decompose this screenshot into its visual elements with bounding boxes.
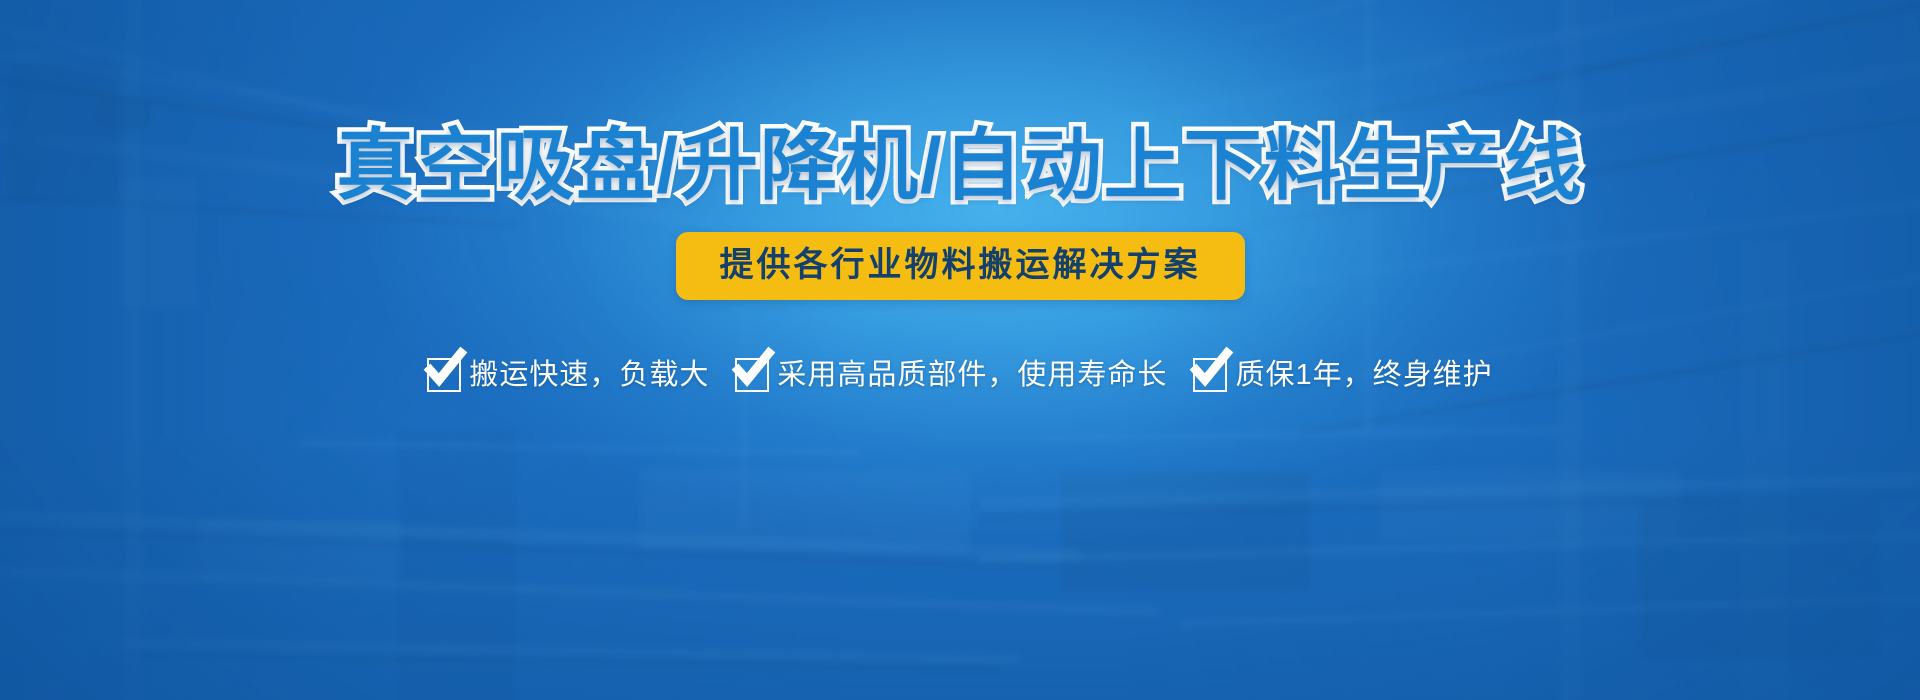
feature-item-2: 采用高品质部件，使用寿命长 (735, 358, 1167, 392)
feature-label-3: 质保1年，终身维护 (1235, 361, 1492, 390)
feature-label-1: 搬运快速，负载大 (469, 361, 709, 390)
feature-list: 搬运快速，负载大 采用高品质部件，使用寿命长 质保1年，终身维护 (427, 358, 1492, 392)
checkmark-icon (427, 358, 461, 392)
banner-headline: 真空吸盘/升降机/自动上下料生产线 (336, 126, 1583, 204)
banner-subtitle-pill: 提供各行业物料搬运解决方案 (676, 232, 1245, 300)
banner-content: 真空吸盘/升降机/自动上下料生产线 提供各行业物料搬运解决方案 搬运快速，负载大… (0, 0, 1920, 700)
feature-item-1: 搬运快速，负载大 (427, 358, 709, 392)
feature-label-2: 采用高品质部件，使用寿命长 (777, 361, 1167, 390)
feature-item-3: 质保1年，终身维护 (1193, 358, 1492, 392)
checkmark-icon (1193, 358, 1227, 392)
promo-banner: 真空吸盘/升降机/自动上下料生产线 提供各行业物料搬运解决方案 搬运快速，负载大… (0, 0, 1920, 700)
checkmark-icon (735, 358, 769, 392)
